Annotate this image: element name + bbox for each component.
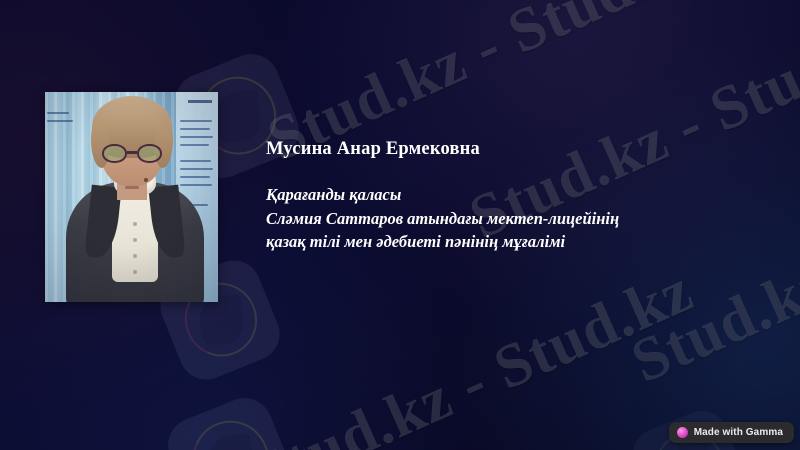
photo-left-poster xyxy=(45,106,79,146)
made-with-gamma-badge[interactable]: Made with Gamma xyxy=(669,422,794,443)
person-name: Мусина Анар Ермековна xyxy=(266,138,736,161)
photo-glasses xyxy=(102,144,162,164)
detail-line-role: қазақ тілі мен әдебиеті пәнінің мұғалімі xyxy=(266,230,736,253)
photo-person-body xyxy=(66,182,204,302)
person-details: Қарағанды қаласы Сләмия Саттаров атындағ… xyxy=(266,183,736,253)
portrait-photo xyxy=(45,92,218,302)
detail-line-city: Қарағанды қаласы xyxy=(266,183,736,206)
gamma-dot-icon xyxy=(677,427,688,438)
detail-line-school: Сләмия Саттаров атындағы мектеп-лицейіні… xyxy=(266,207,736,230)
gamma-badge-label: Made with Gamma xyxy=(694,427,783,438)
presentation-slide: Stud.kz - Stud.kz Stud.kz - Stud.kz Stud… xyxy=(0,0,800,450)
slide-text-block: Мусина Анар Ермековна Қарағанды қаласы С… xyxy=(266,138,736,253)
